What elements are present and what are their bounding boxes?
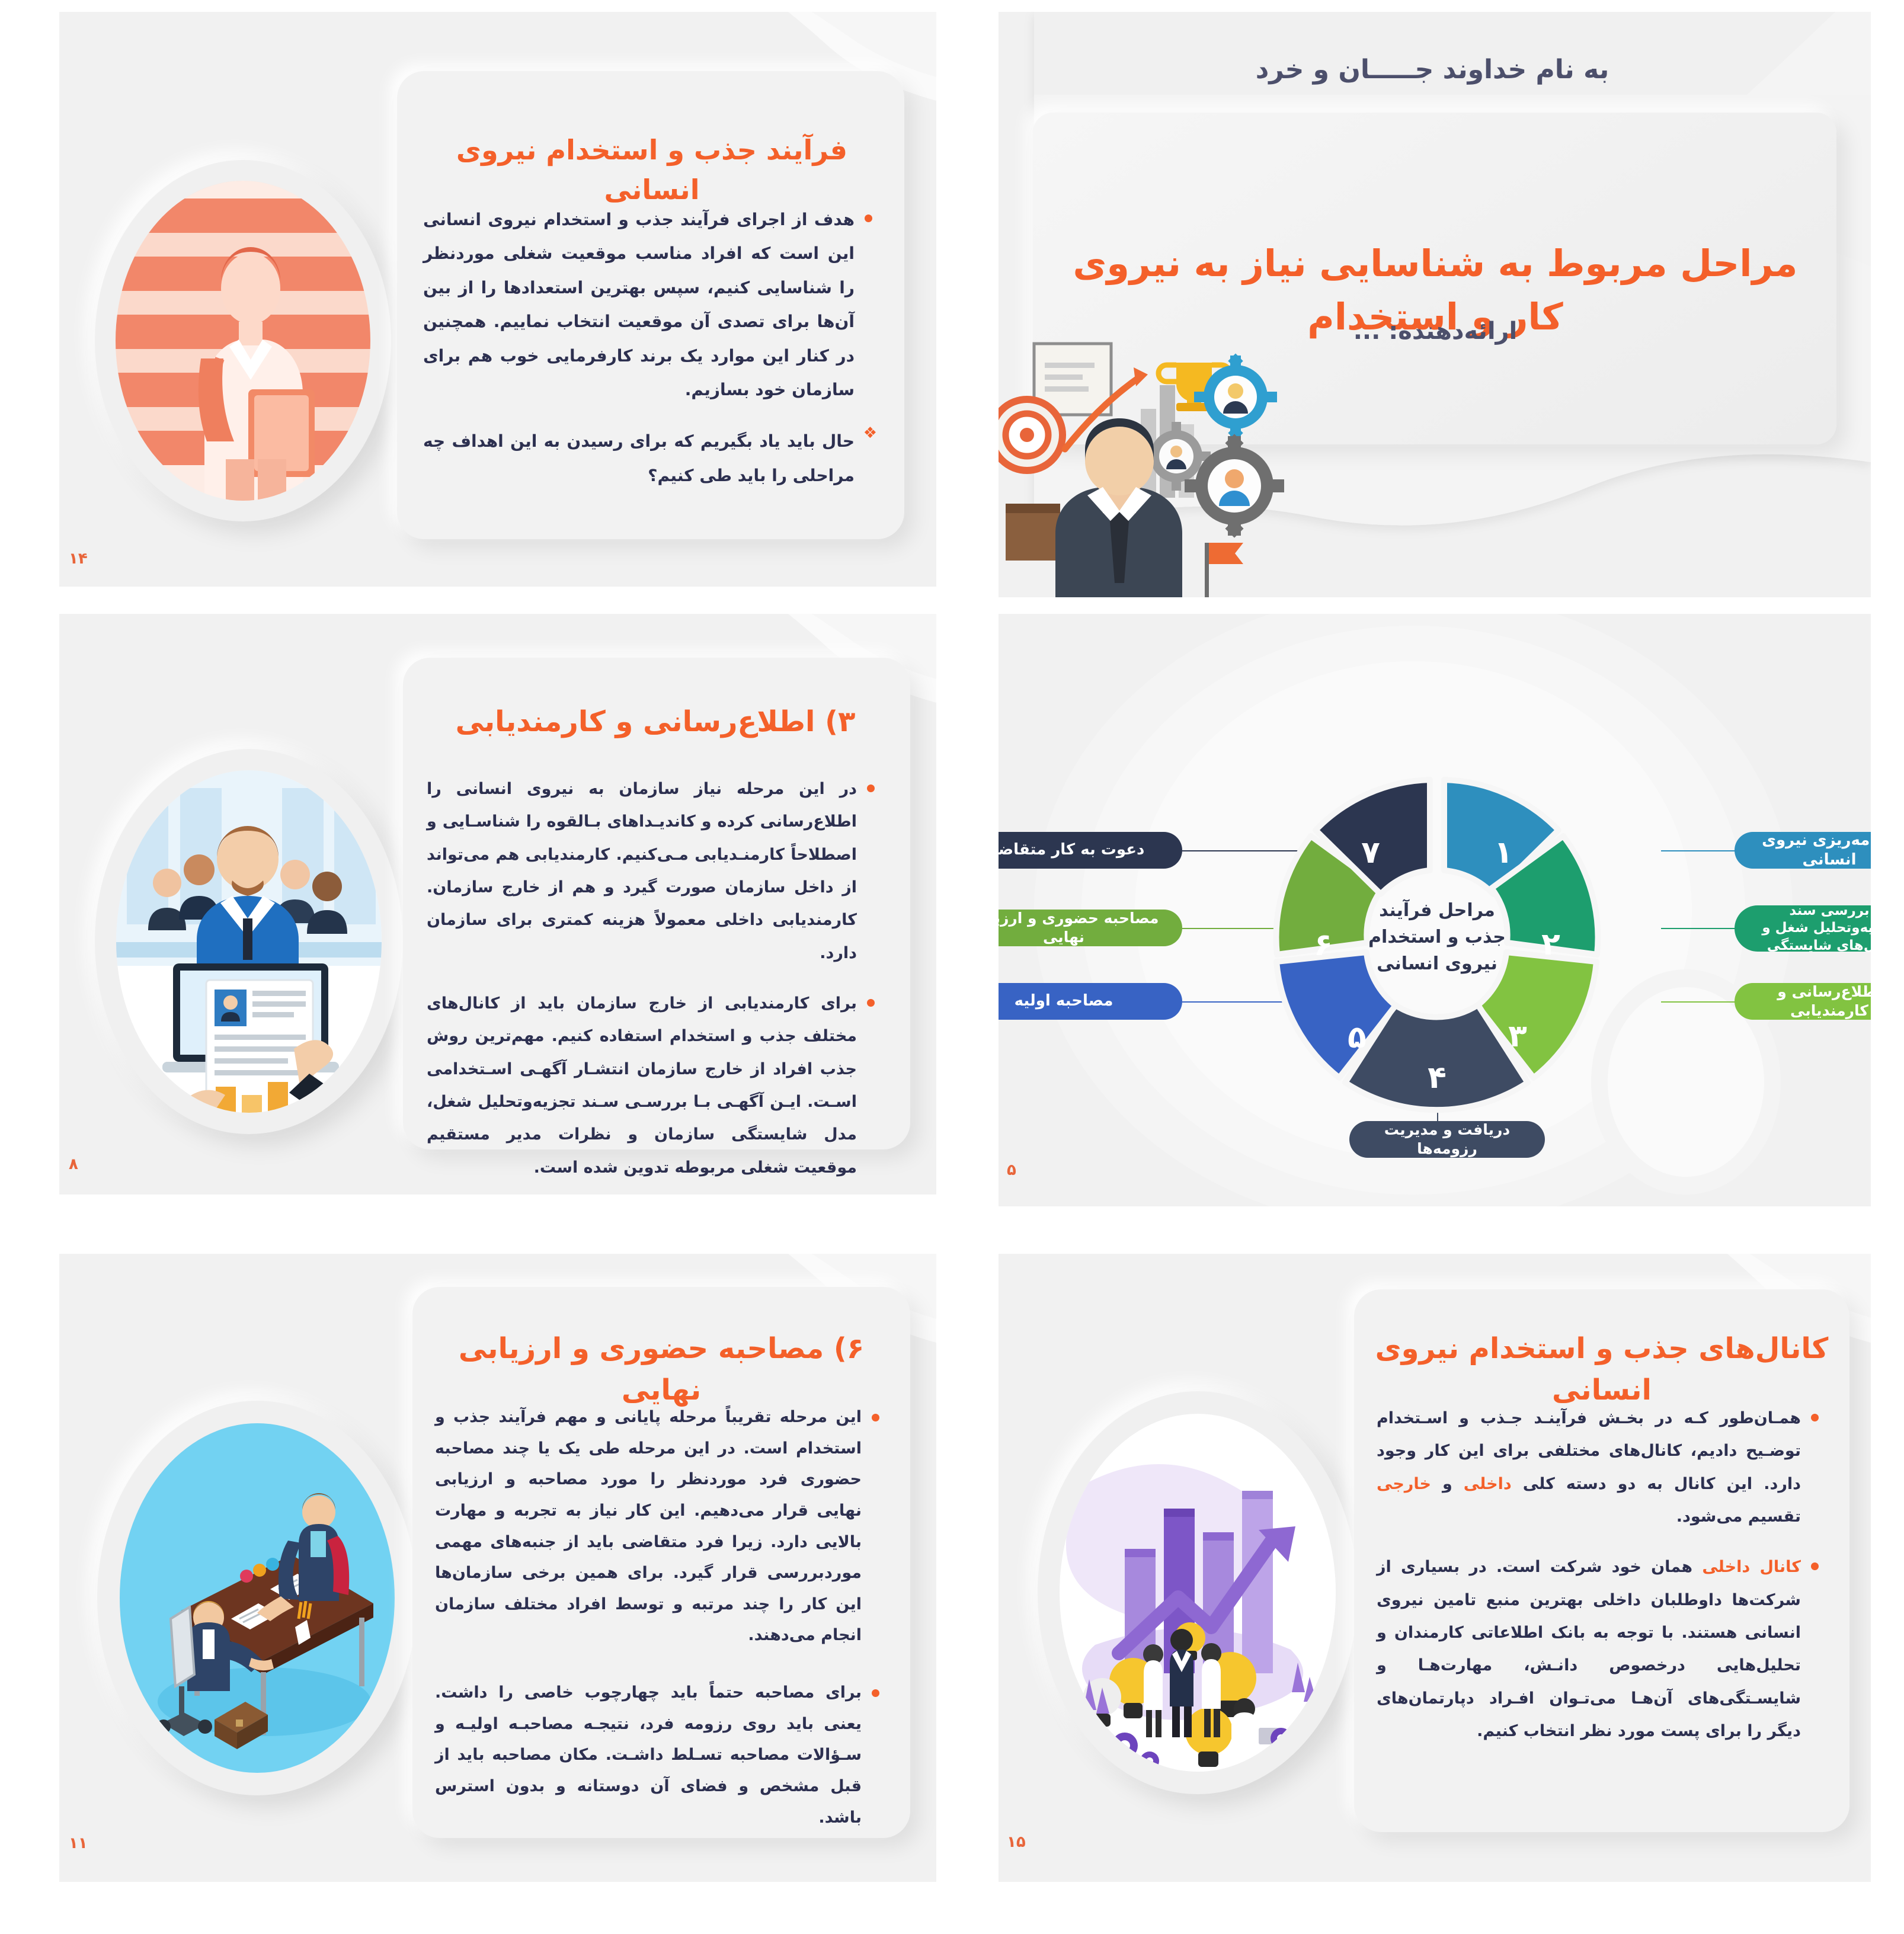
- final-interview-slide[interactable]: ۱۱: [59, 1254, 936, 1882]
- slide-cell-5: ۱۵: [980, 1237, 1904, 1934]
- page-number: ۵: [1007, 1161, 1016, 1179]
- wheel-number-6: ۶: [1314, 927, 1333, 963]
- wheel-label-6[interactable]: مصاحبه حضوری و ارزیابی نهایی: [999, 910, 1182, 946]
- page-number: ۸: [69, 1155, 78, 1173]
- wheel-center-caption: مراحل فرآیند جذب و استخدام نیروی انسانی: [1360, 897, 1514, 977]
- list-item: حال باید یاد بگیریم که برای رسیدن به این…: [423, 424, 881, 492]
- isometric-job-interview-desk-illustration: [120, 1423, 395, 1773]
- bullet-list: این مرحله تقریباً مرحله پایانی و مهم فرآ…: [435, 1402, 888, 1851]
- presenter-label: ارائه‌دهنده: ...: [1047, 318, 1823, 345]
- wheel-label-3[interactable]: اطلاع‌رسانی و کارمندیابی: [1735, 983, 1871, 1020]
- bullet-list: هدف از اجرای فرآیند جذب و استخدام نیروی …: [423, 203, 881, 510]
- wheel-number-4: ۴: [1428, 1060, 1447, 1096]
- highlight-internal: داخلی: [1464, 1475, 1512, 1493]
- page-title: ۳) اطلاع‌رسانی و کارمندیابی: [423, 702, 888, 743]
- candidates-resume-tablet-illustration: [116, 770, 382, 1113]
- wheel-center-line: نیروی انسانی: [1360, 950, 1514, 977]
- photo-frame: [1038, 1391, 1358, 1794]
- wheel-label-1[interactable]: برنامه‌ریزی نیروی انسانی: [1735, 832, 1871, 869]
- slide-cell-6: ۱۱: [24, 1237, 980, 1934]
- wheel-number-5: ۵: [1348, 1020, 1367, 1055]
- list-item: برای مصاحبه حتماً باید چهارچوب خاصی را د…: [435, 1677, 888, 1833]
- channels-slide[interactable]: ۱۵: [999, 1254, 1871, 1882]
- photo-frame: [95, 160, 391, 521]
- highlight-external: خارجی: [1377, 1475, 1431, 1493]
- wheel-label-2[interactable]: بررسی سند تجزیه‌وتحلیل شغل و مدل‌های شای…: [1735, 905, 1871, 952]
- sourcing-slide[interactable]: ۸: [59, 614, 936, 1195]
- wheel-label-7[interactable]: دعوت به کار متقاضی: [999, 832, 1182, 869]
- highlight-internal-channel: کانال داخلی: [1702, 1558, 1801, 1576]
- wheel-label-4[interactable]: دریافت و مدیریت رزومه‌ها: [1349, 1121, 1545, 1158]
- slide-cell-4: ۸: [24, 603, 980, 1237]
- text-run: همان خود شرکت است. در بسیاری از شرکت‌ها …: [1377, 1558, 1801, 1740]
- wheel-center-line: مراحل فرآیند: [1360, 897, 1514, 924]
- list-item: همـان‌طور کـه در بخـش فرآینـد جـذب و اسـ…: [1377, 1402, 1827, 1533]
- page-title: کانال‌های جذب و استخدام نیروی انسانی: [1373, 1328, 1831, 1411]
- text-run: تقسیم می‌شود.: [1676, 1507, 1801, 1526]
- page-title: ۶) مصاحبه حضوری و ارزیابی نهایی: [431, 1328, 891, 1411]
- list-item: این مرحله تقریباً مرحله پایانی و مهم فرآ…: [435, 1402, 888, 1651]
- list-item: برای کارمندیابی از خارج سازمان باید از ک…: [427, 987, 883, 1184]
- list-item: هدف از اجرای فرآیند جذب و استخدام نیروی …: [423, 203, 881, 406]
- title-slide[interactable]: به نام خداوند جـــــان و خرد مراحل مربوط…: [999, 12, 1871, 597]
- wheel-label-5[interactable]: مصاحبه اولیه: [999, 983, 1182, 1020]
- man-on-stairs-with-folder-photo: [116, 181, 370, 501]
- recruitment-process-slide[interactable]: ۱۴: [59, 12, 936, 587]
- bullet-list: همـان‌طور کـه در بخـش فرآینـد جـذب و اسـ…: [1377, 1402, 1827, 1765]
- text-run: و: [1431, 1475, 1464, 1493]
- photo-frame: [95, 749, 403, 1134]
- slide-cell-3: ۵: [980, 603, 1904, 1237]
- wheel-number-2: ۲: [1541, 927, 1560, 962]
- page-number: ۱۴: [69, 550, 88, 568]
- wheel-number-3: ۳: [1508, 1019, 1527, 1054]
- wheel-center-line: جذب و استخدام: [1360, 924, 1514, 950]
- page-title: فرآیند جذب و استخدام نیروی انسانی: [420, 130, 884, 209]
- growth-chart-teamwork-lightbulbs-illustration: [1060, 1414, 1336, 1772]
- slide-cell-2: ۱۴: [24, 0, 980, 603]
- slide-deck-grid: به نام خداوند جـــــان و خرد مراحل مربوط…: [0, 0, 1904, 1934]
- photo-frame: [97, 1401, 417, 1795]
- page-number: ۱۵: [1007, 1833, 1026, 1851]
- slide-cell-1: به نام خداوند جـــــان و خرد مراحل مربوط…: [980, 0, 1904, 603]
- process-wheel-slide[interactable]: ۵: [999, 614, 1871, 1206]
- list-item: کانال داخلی همان خود شرکت است. در بسیاری…: [1377, 1551, 1827, 1747]
- page-number: ۱۱: [69, 1834, 88, 1852]
- wheel-number-7: ۷: [1361, 835, 1380, 870]
- wheel-number-1: ۱: [1494, 835, 1513, 870]
- list-item: در این مرحله نیاز سازمان به نیروی انسانی…: [427, 773, 883, 969]
- invocation-text: به نام خداوند جـــــان و خرد: [1065, 55, 1800, 85]
- bullet-list: در این مرحله نیاز سازمان به نیروی انسانی…: [427, 773, 883, 1195]
